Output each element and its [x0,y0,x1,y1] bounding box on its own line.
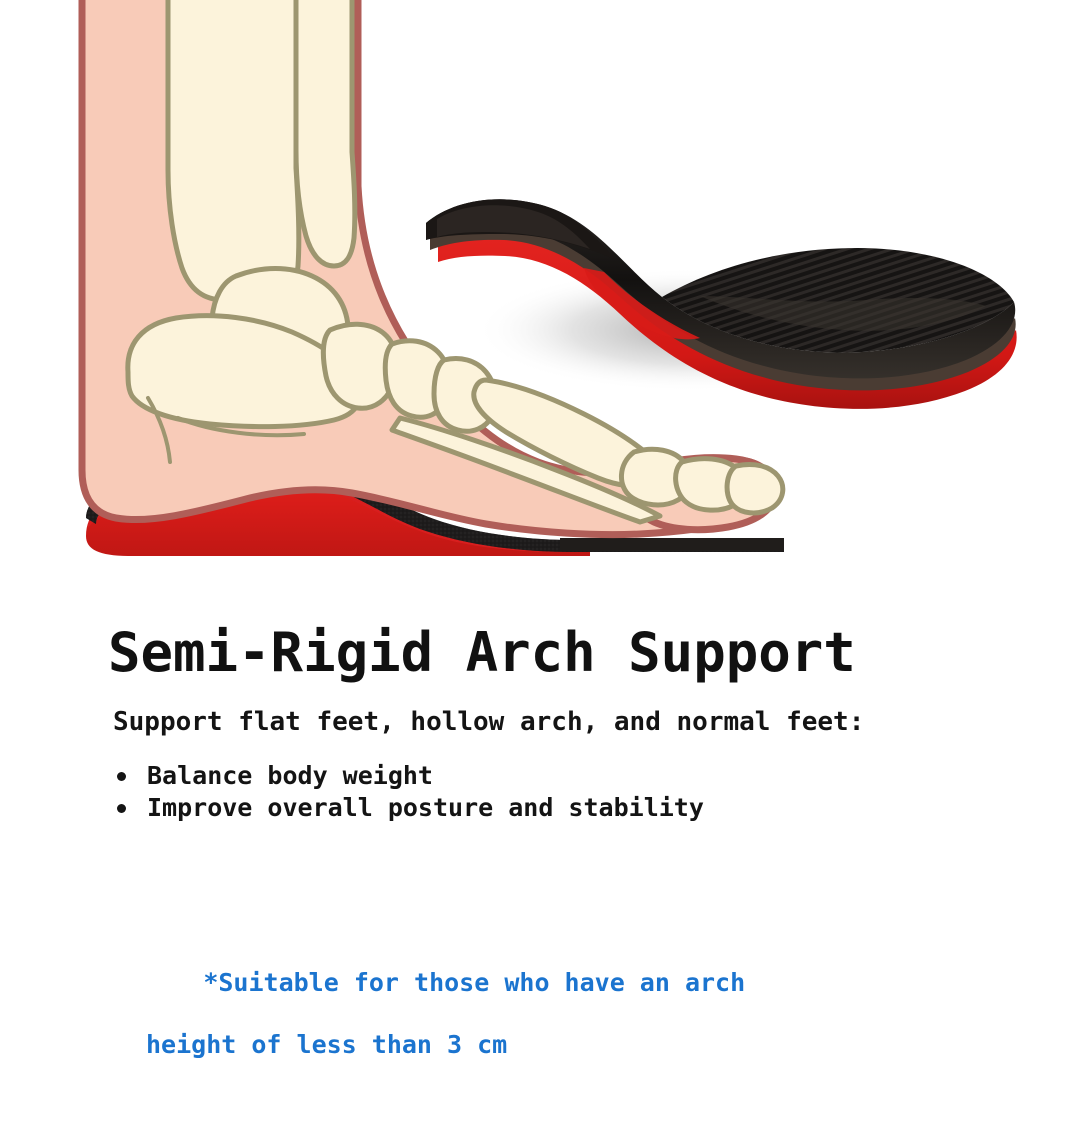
tibia [168,0,299,300]
subtitle: Support flat feet, hollow arch, and norm… [113,705,864,739]
suitability-footnote: *Suitable for those who have an arch hei… [113,936,745,1122]
benefits-list: Balance body weight Improve overall post… [113,760,704,824]
bullet-dot-icon [117,804,126,813]
worn-insole-forefoot-extension [560,538,784,551]
product-text-block: Semi-Rigid Arch Support Support flat fee… [0,600,1080,1080]
distal-phalanx [727,464,783,512]
page-title: Semi-Rigid Arch Support [108,622,856,684]
illustration-svg [0,0,1080,600]
footnote-line-2: height of less than 3 cm [113,1029,745,1060]
foot-anatomy-illustration [0,0,1080,600]
list-item-label: Improve overall posture and stability [147,793,704,822]
list-item-label: Balance body weight [147,761,433,790]
bullet-dot-icon [117,772,126,781]
list-item: Improve overall posture and stability [113,792,704,824]
list-item: Balance body weight [113,760,704,792]
footnote-line-1: *Suitable for those who have an arch [203,968,745,997]
product-info-card: Semi-Rigid Arch Support Support flat fee… [0,0,1080,1080]
fibula [296,0,355,266]
